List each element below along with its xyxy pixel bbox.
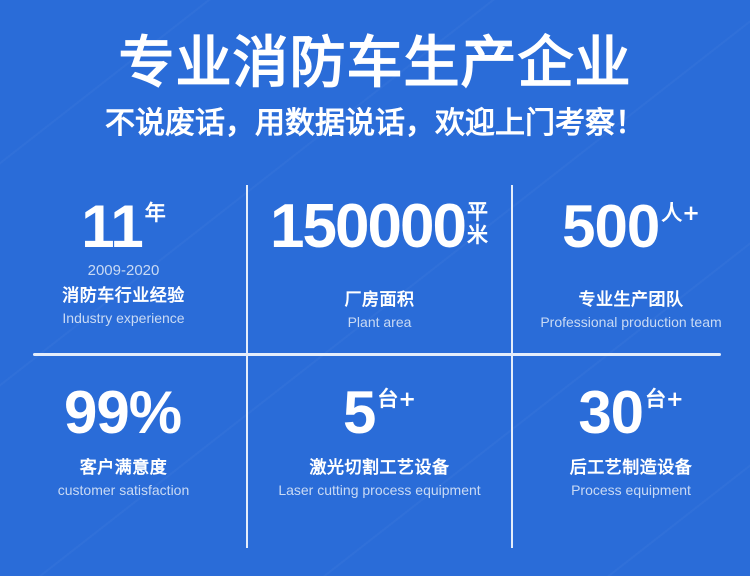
stat-label-cn: 后工艺制造设备 — [570, 458, 693, 479]
stat-cell-customer-satisfaction: 99% 客户满意度 customer satisfaction — [0, 354, 247, 552]
page-subtitle: 不说废话，用数据说话，欢迎上门考察！ — [0, 95, 750, 142]
stat-unit: 年 — [145, 202, 166, 224]
stat-cell-plant-area: 150000 平米 厂房面积 Plant area — [247, 182, 512, 354]
stat-value: 11 年 — [81, 196, 165, 258]
stat-label-cn: 消防车行业经验 — [62, 286, 185, 307]
stat-unit: 平米 — [467, 201, 489, 247]
grid-divider-horizontal — [33, 353, 721, 356]
banner-header: 专业消防车生产企业 不说废话，用数据说话，欢迎上门考察！ — [0, 0, 750, 142]
stat-label-en: Industry experience — [62, 310, 184, 327]
stat-label-cn: 厂房面积 — [345, 290, 415, 311]
stat-label-en: Professional production team — [540, 314, 721, 331]
stat-unit: 台+ — [377, 388, 416, 410]
stat-label-en: customer satisfaction — [58, 482, 190, 499]
stat-cell-process-equipment: 30 台+ 后工艺制造设备 Process equipment — [512, 354, 750, 552]
stat-cell-production-team: 500 人+ 专业生产团队 Professional production te… — [512, 182, 750, 354]
stat-value: 5 台+ — [343, 382, 416, 444]
stat-note: 2009-2020 — [88, 262, 160, 280]
stat-cell-industry-experience: 11 年 2009-2020 消防车行业经验 Industry experien… — [0, 182, 247, 354]
stat-value: 500 人+ — [562, 196, 700, 258]
stat-label-en: Plant area — [348, 314, 412, 331]
stat-number: 99% — [64, 382, 181, 444]
grid-divider-vertical-right — [511, 185, 513, 548]
stat-number: 5 — [343, 382, 375, 444]
stat-value: 99% — [64, 382, 183, 444]
stat-unit: 人+ — [661, 202, 700, 224]
promo-banner: 专业消防车生产企业 不说废话，用数据说话，欢迎上门考察！ 11 年 2009-2… — [0, 0, 750, 576]
stat-number: 30 — [578, 382, 643, 444]
stat-label-en: Laser cutting process equipment — [278, 482, 480, 499]
grid-divider-vertical-left — [246, 185, 248, 548]
stat-label-cn: 专业生产团队 — [579, 290, 684, 311]
stat-value: 30 台+ — [578, 382, 683, 444]
stat-number: 150000 — [270, 196, 465, 258]
stat-cell-laser-cutting-equipment: 5 台+ 激光切割工艺设备 Laser cutting process equi… — [247, 354, 512, 552]
stat-value: 150000 平米 — [270, 196, 489, 258]
stat-label-en: Process equipment — [571, 482, 691, 499]
stat-unit: 台+ — [645, 388, 684, 410]
stat-label-cn: 激光切割工艺设备 — [310, 458, 450, 479]
stat-number: 500 — [562, 196, 659, 258]
stats-grid: 11 年 2009-2020 消防车行业经验 Industry experien… — [0, 182, 750, 552]
page-title: 专业消防车生产企业 — [0, 0, 750, 95]
stat-number: 11 — [81, 196, 142, 258]
stat-label-cn: 客户满意度 — [80, 458, 168, 479]
